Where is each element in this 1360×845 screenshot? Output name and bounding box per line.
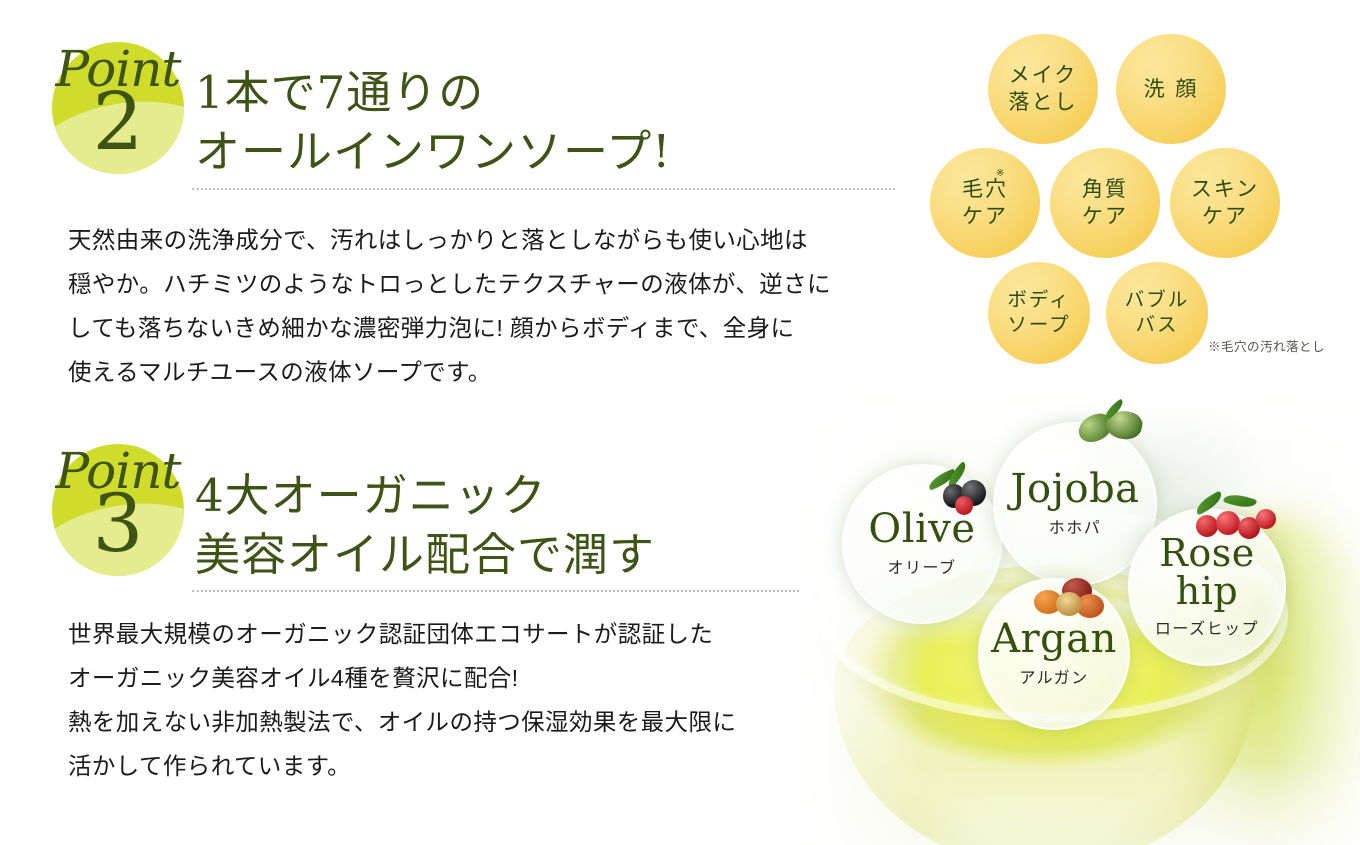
use-label-line-1: 角質	[1082, 176, 1128, 203]
rosehip-leaf	[1193, 491, 1225, 516]
point-3-body: 世界最大規模のオーガニック認証団体エコサートが認証した オーガニック美容オイル4…	[68, 612, 736, 788]
use-circle-keratin-care: 角質 ケア	[1050, 148, 1160, 258]
rosehip-berry-icon	[1190, 495, 1286, 551]
jojoba-seed-icon	[1076, 405, 1150, 455]
oil-name-jp: ホホパ	[1049, 514, 1102, 538]
use-label-line-1: スキン	[1191, 176, 1259, 203]
point-3-body-line-3: 熱を加えない非加熱製法で、オイルの持つ保湿効果を最大限に	[68, 700, 736, 744]
point-2-body-line-2: 穏やか。ハチミツのようなトロっとしたテクスチャーの液体が、逆さに	[68, 262, 831, 306]
use-label-line-1: メイク	[1009, 62, 1078, 89]
oil-name-jp: ローズヒップ	[1155, 615, 1259, 639]
argan-kernel	[1056, 592, 1082, 616]
use-circle-body-soap: ボディ ソープ	[988, 262, 1090, 364]
use-circle-bubble-bath: バブル バス	[1106, 262, 1208, 364]
point-3-body-line-1: 世界最大規模のオーガニック認証団体エコサートが認証した	[68, 612, 736, 656]
rosehip-berry	[1196, 515, 1218, 537]
oil-name-jp: アルガン	[1019, 664, 1088, 688]
point-2-divider	[192, 188, 895, 190]
badge-number: 3	[52, 484, 184, 564]
point-2-heading-line-2: オールインワンソープ!	[195, 122, 671, 181]
point-3-heading-line-1: 4大オーガニック	[195, 466, 655, 525]
use-label-line-2: バス	[1135, 313, 1178, 338]
red-olive	[955, 496, 973, 515]
point-2-badge: Point 2	[52, 42, 184, 174]
point-2-body-line-1: 天然由来の洗浄成分で、汚れはしっかりと落としながらも使い心地は	[68, 218, 831, 262]
use-label-line-1: バブル	[1125, 288, 1190, 313]
point-3-body-line-2: オーガニック美容オイル4種を贅沢に配合!	[68, 656, 736, 700]
use-label-line-1: ボディ	[1007, 288, 1070, 313]
oil-name-en: Jojoba	[1010, 470, 1139, 509]
badge-number: 2	[52, 82, 184, 162]
pore-care-asterisk-mark: ※	[996, 168, 1004, 181]
use-label-line-2: ケア	[1202, 203, 1248, 230]
point-3-body-line-4: 活かして作られています。	[68, 744, 736, 788]
argan-nut-icon	[1032, 578, 1108, 628]
point-3-divider	[192, 590, 895, 592]
use-circle-pore-care: ※ 毛穴 ケア	[930, 148, 1040, 258]
rosehip-berry	[1216, 511, 1240, 535]
use-circle-make-remover: メイク 落とし	[988, 34, 1098, 144]
point-2-heading-line-1: 1本で7通りの	[195, 63, 671, 122]
point-3-heading: 4大オーガニック 美容オイル配合で潤す	[195, 466, 655, 585]
use-label-line-1: 洗 顔	[1144, 76, 1199, 103]
point-2-body-line-4: 使えるマルチユースの液体ソープです。	[68, 350, 831, 394]
rosehip-berry	[1256, 509, 1276, 529]
olive-fruit-icon	[925, 470, 995, 516]
point-2-body: 天然由来の洗浄成分で、汚れはしっかりと落としながらも使い心地は 穏やか。ハチミツ…	[68, 218, 831, 394]
oil-name-jp: オリーブ	[887, 554, 956, 578]
use-label-line-2: ケア	[1082, 203, 1128, 230]
use-label-line-2: ソープ	[1007, 313, 1070, 338]
pore-care-footnote: ※毛穴の汚れ落とし	[1208, 336, 1325, 355]
point-3-badge: Point 3	[52, 444, 184, 576]
point-3-heading-line-2: 美容オイル配合で潤す	[195, 525, 655, 584]
use-circle-skin-care: スキン ケア	[1170, 148, 1280, 258]
point-2-heading: 1本で7通りの オールインワンソープ!	[195, 63, 671, 182]
page-root: Point 2 1本で7通りの オールインワンソープ! 天然由来の洗浄成分で、汚…	[0, 0, 1360, 845]
use-label-line-2: 落とし	[1009, 89, 1078, 116]
use-circle-face-wash: 洗 顔	[1116, 34, 1226, 144]
oil-name-en-line-2: hip	[1176, 573, 1238, 610]
use-label-line-2: ケア	[962, 203, 1008, 230]
use-circle-cluster: メイク 落とし 洗 顔 ※ 毛穴 ケア 角質 ケア スキン ケア ボディ ソープ…	[920, 20, 1360, 365]
point-2-body-line-3: しても落ちないきめ細かな濃密弾力泡に! 顔からボディまで、全身に	[68, 306, 831, 350]
